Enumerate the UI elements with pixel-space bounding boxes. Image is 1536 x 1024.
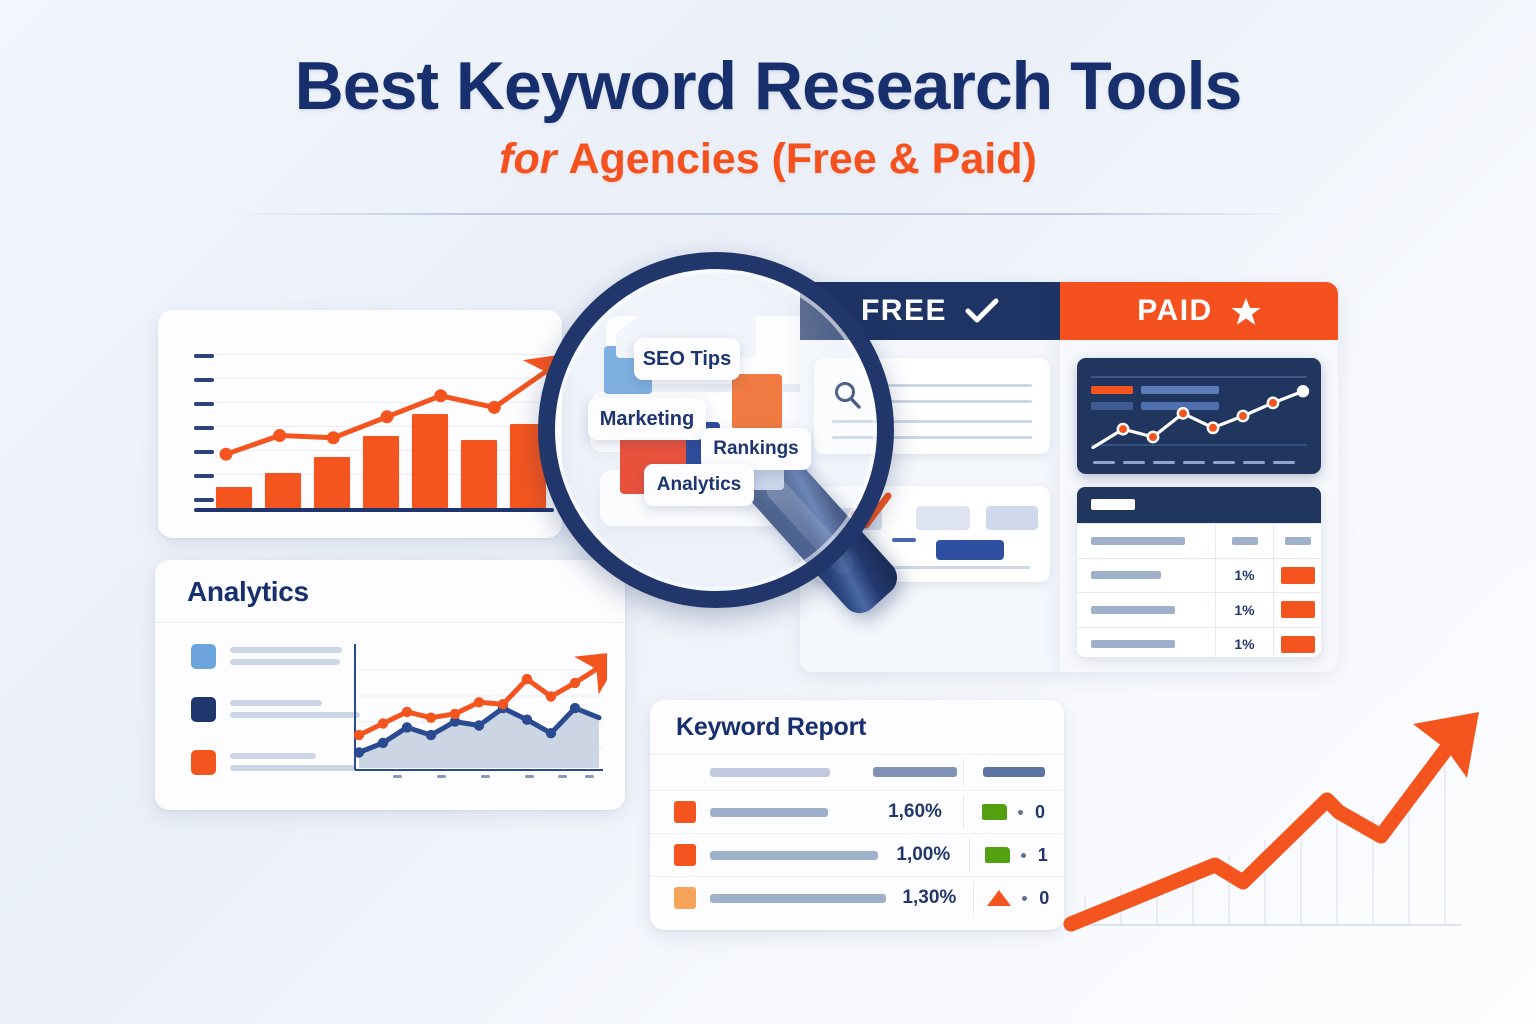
data-point bbox=[546, 728, 556, 738]
data-point bbox=[402, 722, 412, 732]
cell-trend: 0 bbox=[964, 802, 1064, 823]
data-point bbox=[1148, 432, 1158, 442]
col-pct bbox=[1215, 524, 1273, 558]
x-tick bbox=[1183, 461, 1205, 464]
data-point bbox=[354, 730, 364, 740]
poster-header: Best Keyword Research Tools for Agencies… bbox=[0, 0, 1536, 181]
cell-count: 0 bbox=[1038, 888, 1050, 909]
table-row[interactable]: 1% bbox=[1077, 558, 1321, 593]
poster-canvas: Best Keyword Research Tools for Agencies… bbox=[0, 0, 1536, 1024]
paid-line-svg bbox=[1077, 358, 1321, 474]
data-point bbox=[378, 718, 388, 728]
data-point bbox=[450, 709, 460, 719]
hero-growth-arrow bbox=[1055, 690, 1515, 955]
data-point bbox=[426, 730, 436, 740]
col-head-trend bbox=[964, 767, 1064, 777]
magnifier[interactable]: SEO Tips Marketing Rankings Analytics bbox=[534, 248, 884, 668]
placeholder-line bbox=[884, 384, 1032, 387]
triangle-up-icon bbox=[987, 890, 1011, 906]
cell-swatch bbox=[1273, 628, 1321, 658]
page-title: Best Keyword Research Tools bbox=[0, 0, 1536, 120]
cell-percent: 1% bbox=[1215, 559, 1273, 593]
row-swatch bbox=[674, 844, 696, 866]
data-point bbox=[570, 703, 580, 713]
legend-placeholder bbox=[230, 697, 360, 724]
y-axis-tick bbox=[194, 498, 214, 502]
legend-item bbox=[191, 750, 341, 777]
row-swatch bbox=[674, 887, 696, 909]
y-axis-tick bbox=[194, 378, 214, 382]
data-point bbox=[498, 699, 508, 709]
data-point bbox=[522, 715, 532, 725]
analytics-title: Analytics bbox=[187, 576, 309, 608]
x-tick bbox=[1213, 461, 1235, 464]
magnifier-ring: SEO Tips Marketing Rankings Analytics bbox=[538, 252, 894, 608]
paid-label: PAID bbox=[1137, 294, 1212, 328]
keyword-tag[interactable]: Marketing bbox=[588, 398, 706, 440]
paid-table-rows: 1%1%1% bbox=[1077, 558, 1321, 658]
data-point bbox=[474, 697, 484, 707]
cell-name bbox=[1077, 628, 1215, 658]
keyword-report-card: Keyword Report 1,60%01,00%11,30%0 bbox=[650, 700, 1064, 930]
data-point bbox=[402, 707, 412, 717]
magnifier-lens: SEO Tips Marketing Rankings Analytics bbox=[576, 290, 864, 578]
row-swatch bbox=[674, 801, 696, 823]
separator-dot bbox=[1021, 853, 1026, 858]
y-axis-tick bbox=[194, 354, 214, 358]
keyword-report-title: Keyword Report bbox=[676, 713, 866, 742]
placeholder-block bbox=[986, 506, 1038, 530]
page-subtitle: for Agencies (Free & Paid) bbox=[0, 120, 1536, 181]
cell-keyword-placeholder bbox=[710, 808, 828, 817]
data-point bbox=[522, 674, 532, 684]
highlight-block bbox=[936, 540, 1004, 560]
placeholder-line bbox=[892, 538, 916, 542]
separator-dot bbox=[1022, 896, 1027, 901]
keyword-tag[interactable]: Analytics bbox=[644, 464, 754, 506]
cell-name bbox=[1077, 593, 1215, 627]
paid-panel-header: PAID bbox=[1060, 282, 1338, 340]
x-tick bbox=[1153, 461, 1175, 464]
placeholder-line bbox=[884, 400, 1032, 403]
legend-placeholder bbox=[230, 644, 342, 671]
data-point bbox=[546, 691, 556, 701]
legend-light-blue bbox=[191, 644, 216, 669]
lens-chip bbox=[732, 374, 782, 430]
y-axis-tick bbox=[194, 474, 214, 478]
data-point bbox=[1208, 423, 1218, 433]
x-axis-line bbox=[194, 508, 554, 512]
table-row[interactable]: 1,60%0 bbox=[650, 790, 1064, 833]
table-row[interactable]: 1% bbox=[1077, 592, 1321, 627]
cell-trend: 0 bbox=[974, 888, 1064, 909]
table-row-header bbox=[1077, 523, 1321, 558]
cell-swatch bbox=[1273, 559, 1321, 593]
legend-orange bbox=[191, 750, 216, 775]
cell-percent: 1% bbox=[1215, 593, 1273, 627]
bar bbox=[461, 440, 497, 508]
paid-trend-chart bbox=[1077, 358, 1321, 474]
col-head-name bbox=[710, 768, 830, 777]
x-tick bbox=[1243, 461, 1265, 464]
data-point bbox=[570, 678, 580, 688]
legend-item bbox=[191, 644, 341, 671]
keyword-report-rows: 1,60%01,00%11,30%0 bbox=[650, 790, 1064, 919]
cell-name bbox=[1077, 559, 1215, 593]
star-icon bbox=[1231, 297, 1261, 326]
cell-count: 1 bbox=[1037, 845, 1049, 866]
header-divider bbox=[228, 213, 1308, 215]
x-tick bbox=[1273, 461, 1295, 464]
cell-percent: 1,00% bbox=[878, 844, 969, 866]
data-point bbox=[426, 713, 436, 723]
data-point bbox=[1118, 424, 1128, 434]
col-name bbox=[1077, 524, 1215, 558]
bar bbox=[216, 487, 252, 508]
bar-series bbox=[216, 356, 546, 508]
bar bbox=[314, 457, 350, 508]
cell-count: 0 bbox=[1034, 802, 1046, 823]
bar bbox=[265, 473, 301, 508]
y-axis-tick bbox=[194, 450, 214, 454]
data-point bbox=[1268, 398, 1278, 408]
trend-up-icon bbox=[985, 847, 1010, 863]
y-axis-tick bbox=[194, 402, 214, 406]
keyword-report-body: 1,60%01,00%11,30%0 bbox=[650, 754, 1064, 930]
separator-dot bbox=[1018, 810, 1023, 815]
cell-keyword-placeholder bbox=[710, 894, 886, 903]
table-row[interactable]: 1% bbox=[1077, 627, 1321, 658]
cell-percent: 1,60% bbox=[867, 801, 963, 823]
bar bbox=[363, 436, 399, 508]
col-head-pct bbox=[867, 767, 963, 777]
col-swatch bbox=[1273, 524, 1321, 558]
subtitle-rest: Agencies (Free & Paid) bbox=[568, 135, 1036, 183]
table-row-header bbox=[650, 754, 1064, 790]
table-row[interactable]: 1,30%0 bbox=[650, 876, 1064, 919]
data-point bbox=[1238, 411, 1248, 421]
cell-keyword-placeholder bbox=[710, 851, 878, 860]
data-point bbox=[354, 747, 364, 757]
subtitle-italic: for bbox=[499, 135, 568, 183]
legend-item bbox=[191, 697, 341, 724]
paid-data-table: 1%1%1% bbox=[1077, 487, 1321, 657]
check-icon bbox=[965, 298, 999, 324]
table-row[interactable]: 1,00%1 bbox=[650, 833, 1064, 876]
analytics-legend bbox=[191, 644, 341, 803]
data-point bbox=[474, 720, 484, 730]
x-tick bbox=[1093, 461, 1115, 464]
cell-percent: 1% bbox=[1215, 628, 1273, 658]
paid-panel: PAID bbox=[1060, 282, 1338, 672]
x-tick bbox=[1123, 461, 1145, 464]
cell-swatch bbox=[1273, 593, 1321, 627]
header-placeholder bbox=[1091, 499, 1135, 510]
table-header bbox=[1077, 487, 1321, 523]
gridline bbox=[202, 354, 548, 355]
data-point bbox=[1178, 408, 1188, 418]
data-point bbox=[1298, 386, 1308, 396]
keyword-tag[interactable]: SEO Tips bbox=[634, 338, 740, 380]
legend-placeholder bbox=[230, 750, 356, 777]
y-axis-tick bbox=[194, 426, 214, 430]
placeholder-block bbox=[916, 506, 970, 530]
bar bbox=[412, 414, 448, 508]
cell-percent: 1,30% bbox=[886, 887, 973, 909]
data-point bbox=[378, 738, 388, 748]
trend-up-icon bbox=[982, 804, 1007, 820]
legend-navy bbox=[191, 697, 216, 722]
growth-bar-chart-panel bbox=[158, 310, 562, 538]
cell-trend: 1 bbox=[970, 845, 1064, 866]
